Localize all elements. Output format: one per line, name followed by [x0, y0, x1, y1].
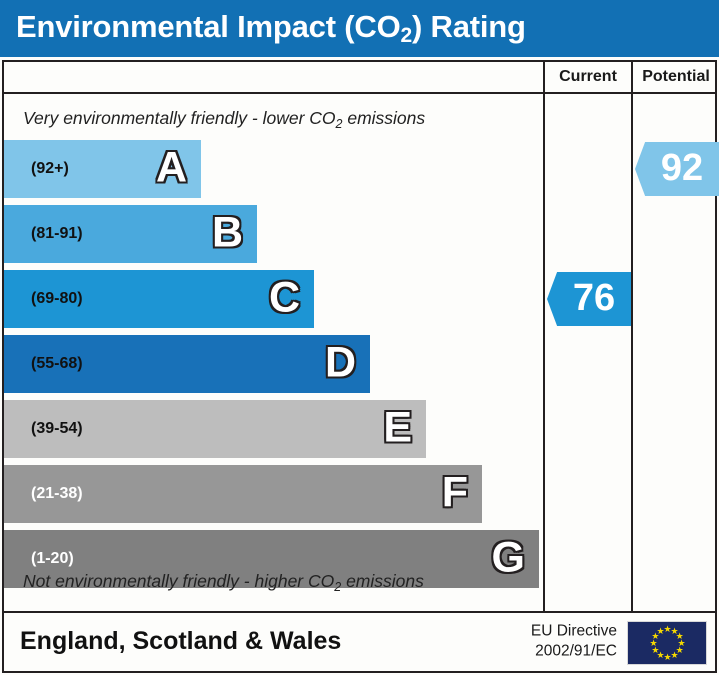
band-bar-f: (21-38)F: [4, 465, 482, 523]
page-title: Environmental Impact (CO2) Rating: [16, 9, 526, 45]
potential-rating-value: 92: [635, 149, 719, 187]
chart-header-bar: Environmental Impact (CO2) Rating: [0, 0, 719, 57]
band-bar-a: (92+)A: [4, 140, 201, 198]
caption-bottom-subscript: 2: [334, 580, 341, 594]
caption-not-friendly: Not environmentally friendly - higher CO…: [4, 571, 543, 597]
rating-table: Current Potential Very environmentally f…: [2, 60, 717, 613]
chart-footer: England, Scotland & Wales EU Directive 2…: [2, 613, 717, 673]
band-range-f: (21-38): [31, 485, 83, 503]
band-range-b: (81-91): [31, 225, 83, 243]
current-rating-value: 76: [547, 279, 631, 317]
caption-top-prefix: Very environmentally friendly - lower CO: [23, 108, 336, 128]
caption-bottom-prefix: Not environmentally friendly - higher CO: [23, 571, 334, 591]
footer-directive-line1: EU Directive: [531, 621, 617, 641]
potential-rating-badge: 92: [635, 142, 719, 196]
footer-directive-line2: 2002/91/EC: [531, 641, 617, 661]
column-divider-potential: [631, 62, 633, 611]
footer-region-label: England, Scotland & Wales: [20, 627, 341, 656]
band-range-d: (55-68): [31, 355, 83, 373]
caption-very-friendly: Very environmentally friendly - lower CO…: [4, 108, 543, 134]
caption-bottom-suffix: emissions: [341, 571, 424, 591]
column-divider-current: [543, 62, 545, 611]
band-letter-e: E: [383, 407, 412, 450]
footer-directive: EU Directive 2002/91/EC: [531, 621, 617, 661]
band-letter-b: B: [212, 212, 243, 255]
eu-flag-icon: ★★★★★★★★★★★★: [627, 621, 707, 665]
band-letter-d: D: [325, 342, 356, 385]
band-range-a: (92+): [31, 160, 69, 178]
column-header-potential: Potential: [633, 62, 719, 92]
page-title-subscript: 2: [401, 24, 412, 47]
page-title-prefix: Environmental Impact (CO: [16, 9, 401, 44]
band-range-c: (69-80): [31, 290, 83, 308]
band-bar-d: (55-68)D: [4, 335, 370, 393]
band-bar-e: (39-54)E: [4, 400, 426, 458]
column-header-current: Current: [545, 62, 631, 92]
current-rating-badge: 76: [547, 272, 631, 326]
caption-top-suffix: emissions: [342, 108, 425, 128]
band-bar-b: (81-91)B: [4, 205, 257, 263]
band-range-e: (39-54): [31, 420, 83, 438]
band-letter-c: C: [269, 277, 300, 320]
band-range-g: (1-20): [31, 550, 74, 568]
caption-top-subscript: 2: [336, 117, 343, 131]
band-bar-c: (69-80)C: [4, 270, 314, 328]
page-title-suffix: ) Rating: [412, 9, 526, 44]
band-chart-area: Very environmentally friendly - lower CO…: [4, 94, 543, 611]
column-header-row: Current Potential: [4, 62, 715, 94]
band-letter-a: A: [156, 147, 187, 190]
band-letter-f: F: [442, 472, 468, 515]
epc-environmental-impact-chart: Environmental Impact (CO2) Rating Curren…: [0, 0, 719, 675]
